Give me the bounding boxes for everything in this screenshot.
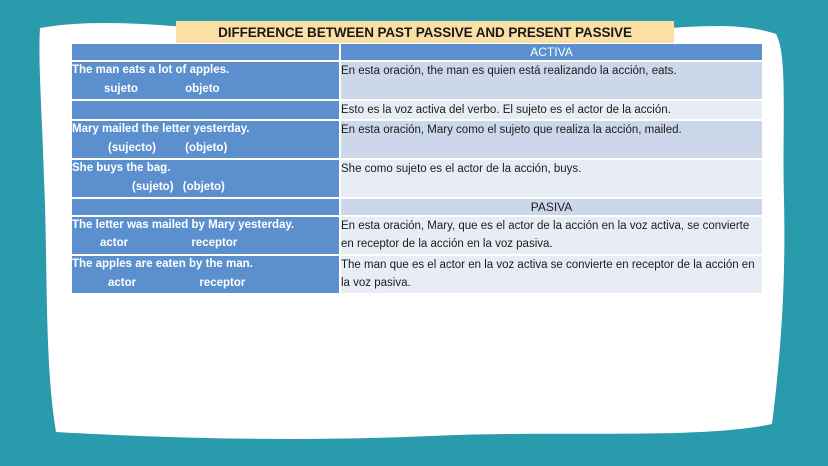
voice-comparison-table-wrapper: ACTIVA The man eats a lot of apples. suj… [72,44,762,295]
role-label-object: (objeto) [183,179,225,197]
role-label-actor: actor [108,275,136,293]
explanation-mary-mailed: En esta oración, Mary como el sujeto que… [341,121,762,160]
sentence-role-labels: actor receptor [72,275,339,293]
sentence-text: The man eats a lot of apples. [72,64,229,76]
table-row: Mary mailed the letter yesterday. (sujec… [72,121,762,160]
role-label-subject: (sujecto) [108,140,156,158]
section-header-left-spacer-pasiva [72,199,341,217]
sentence-text [72,103,75,115]
example-sentence-apples-eaten: The apples are eaten by the man. actor r… [72,256,341,295]
table-row: PASIVA [72,199,762,217]
explanation-apples-eaten: The man que es el actor en la voz activa… [341,256,762,295]
example-sentence-mary-mailed: Mary mailed the letter yesterday. (sujec… [72,121,341,160]
slide-title-banner: DIFFERENCE BETWEEN PAST PASSIVE AND PRES… [176,21,674,43]
sentence-text: She buys the bag. [72,162,170,174]
table-row: The apples are eaten by the man. actor r… [72,256,762,295]
role-label-receptor: receptor [199,275,245,293]
voice-comparison-table: ACTIVA The man eats a lot of apples. suj… [72,44,762,295]
role-label-object: (objeto) [185,140,227,158]
role-label-subject: (sujeto) [132,179,174,197]
section-header-activa: ACTIVA [341,44,762,62]
sentence-role-labels: (sujeto) (objeto) [72,179,339,197]
example-sentence-empty [72,101,341,122]
sentence-text: The letter was mailed by Mary yesterday. [72,219,294,231]
role-label-receptor: receptor [191,235,237,253]
role-label-object: objeto [185,81,220,99]
section-header-pasiva: PASIVA [341,199,762,217]
explanation-man-eats: En esta oración, the man es quien está r… [341,62,762,101]
sentence-role-labels: actor receptor [72,235,339,253]
table-row: The man eats a lot of apples. sujeto obj… [72,62,762,101]
sentence-text: Mary mailed the letter yesterday. [72,123,249,135]
table-row: Esto es la voz activa del verbo. El suje… [72,101,762,122]
section-header-left-spacer-activa [72,44,341,62]
page-title: DIFFERENCE BETWEEN PAST PASSIVE AND PRES… [218,25,632,40]
example-sentence-letter-mailed: The letter was mailed by Mary yesterday.… [72,217,341,256]
role-label-subject: sujeto [104,81,138,99]
example-sentence-she-buys: She buys the bag. (sujeto) (objeto) [72,160,341,199]
sentence-role-labels: sujeto objeto [72,81,339,99]
table-row: ACTIVA [72,44,762,62]
sentence-text: The apples are eaten by the man. [72,258,253,270]
explanation-letter-mailed: En esta oración, Mary, que es el actor d… [341,217,762,256]
table-row: The letter was mailed by Mary yesterday.… [72,217,762,256]
explanation-voz-activa-note: Esto es la voz activa del verbo. El suje… [341,101,762,122]
explanation-she-buys: She como sujeto es el actor de la acción… [341,160,762,199]
example-sentence-man-eats: The man eats a lot of apples. sujeto obj… [72,62,341,101]
sentence-role-labels: (sujecto) (objeto) [72,140,339,158]
role-label-actor: actor [100,235,128,253]
slide-canvas: DIFFERENCE BETWEEN PAST PASSIVE AND PRES… [0,0,828,466]
table-row: She buys the bag. (sujeto) (objeto) She … [72,160,762,199]
